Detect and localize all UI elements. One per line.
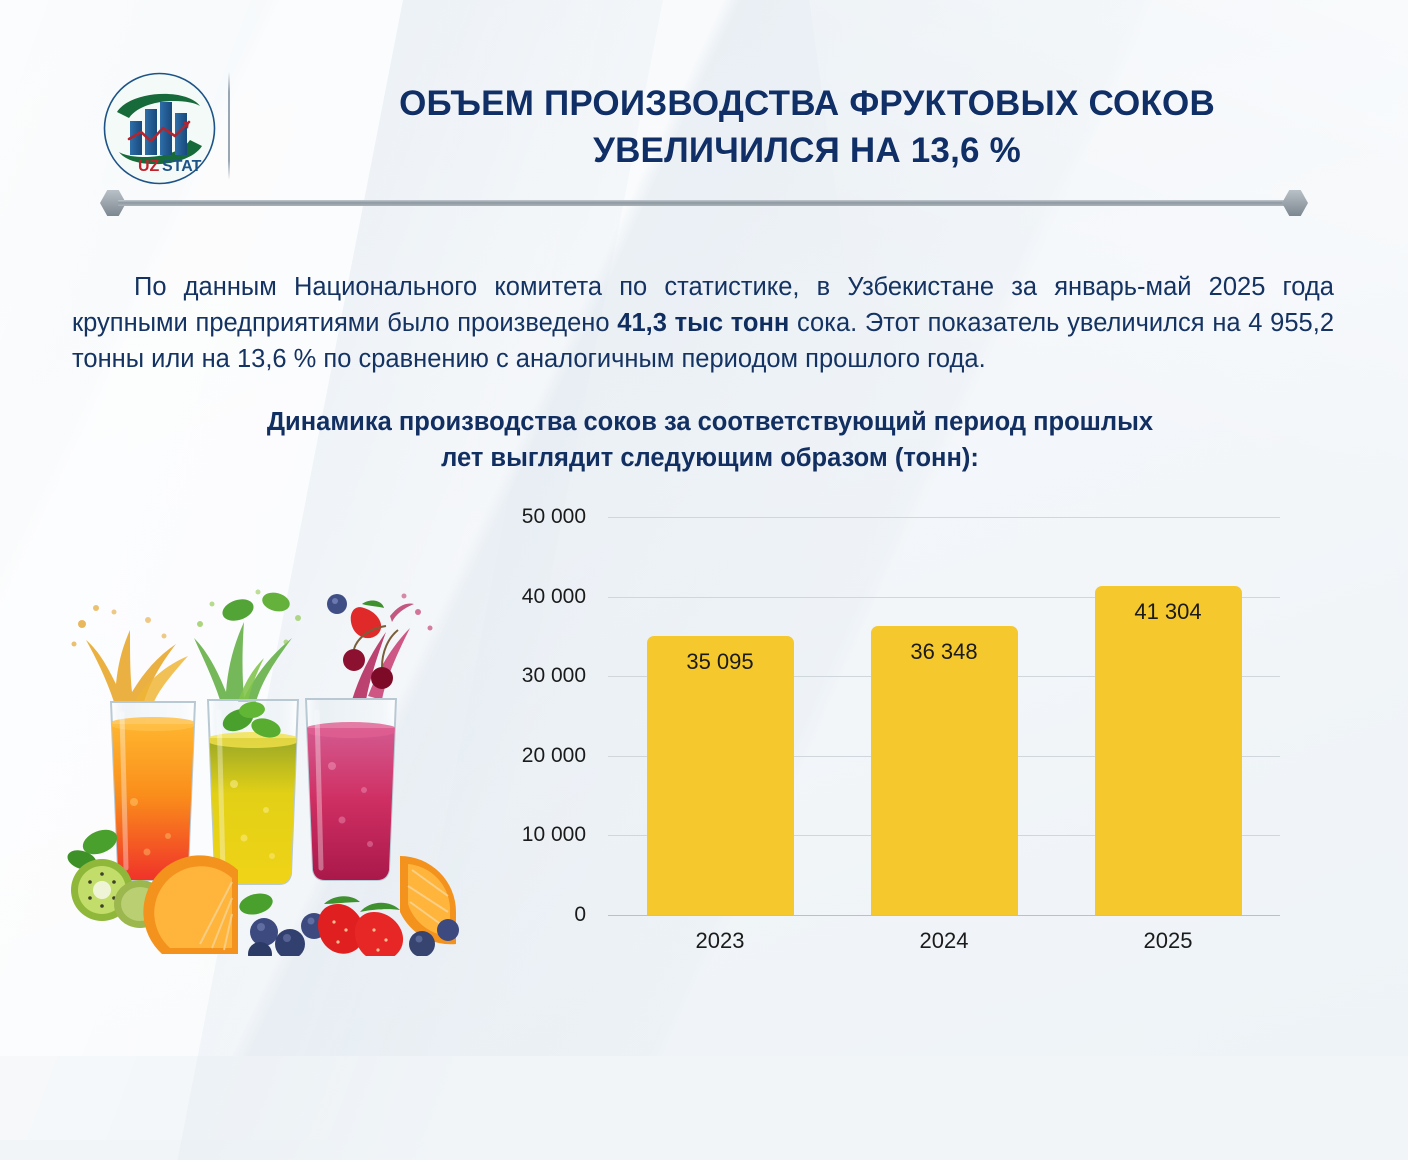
x-axis-tick-label: 2023 [647, 928, 794, 954]
splash-orange [72, 605, 189, 702]
y-axis-tick-label: 0 [476, 903, 586, 927]
y-axis-tick-label: 40 000 [476, 585, 586, 609]
uzstat-logo: UZ STAT [103, 72, 216, 185]
bar-value-label: 35 095 [647, 649, 794, 675]
hex-cap-right-icon [1282, 190, 1308, 216]
x-axis-tick-label: 2024 [871, 928, 1018, 954]
bar-2023[interactable] [647, 636, 794, 915]
chart-subtitle: Динамика производства соков за соответст… [175, 404, 1245, 476]
header: UZ STAT ОБЪЕМ ПРОИЗВОДСТВА ФРУКТОВЫХ СОК… [0, 0, 1408, 190]
chart-subtitle-line-2: лет выглядит следующим образом (тонн): [175, 440, 1245, 476]
header-divider [228, 72, 230, 180]
y-axis-tick-label: 30 000 [476, 664, 586, 688]
bar-chart: 010 00020 00030 00040 00050 000 35 09536… [498, 495, 1298, 955]
page-title: ОБЪЕМ ПРОИЗВОДСТВА ФРУКТОВЫХ СОКОВ УВЕЛИ… [252, 80, 1362, 174]
page-title-line-1: ОБЪЕМ ПРОИЗВОДСТВА ФРУКТОВЫХ СОКОВ [252, 80, 1362, 127]
logo-text-stat: STAT [162, 158, 202, 175]
splash-green [194, 590, 301, 703]
x-axis-tick-label: 2025 [1095, 928, 1242, 954]
bar-value-label: 36 348 [871, 639, 1018, 665]
bar-value-label: 41 304 [1095, 599, 1242, 625]
glass-orange [107, 702, 202, 884]
header-rule [100, 190, 1308, 216]
y-axis-tick-label: 50 000 [476, 505, 586, 529]
rule-line [118, 200, 1290, 206]
paragraph-highlight: 41,3 тыс тонн [617, 309, 789, 337]
glass-berry [302, 699, 402, 888]
page-title-line-2: УВЕЛИЧИЛСЯ НА 13,6 % [252, 127, 1362, 174]
infographic-page: UZ STAT ОБЪЕМ ПРОИЗВОДСТВА ФРУКТОВЫХ СОК… [0, 0, 1408, 1056]
chart-subtitle-line-1: Динамика производства соков за соответст… [175, 404, 1245, 440]
y-axis-tick-label: 10 000 [476, 823, 586, 847]
gridline [608, 517, 1280, 518]
bar-2025[interactable] [1095, 586, 1242, 915]
juice-glasses-illustration [52, 552, 472, 956]
gridline [608, 915, 1280, 916]
lede-paragraph: По данным Национального комитета по стат… [72, 269, 1334, 377]
logo-text-uz: UZ [138, 158, 160, 175]
y-axis-tick-label: 20 000 [476, 744, 586, 768]
bar-2024[interactable] [871, 626, 1018, 915]
